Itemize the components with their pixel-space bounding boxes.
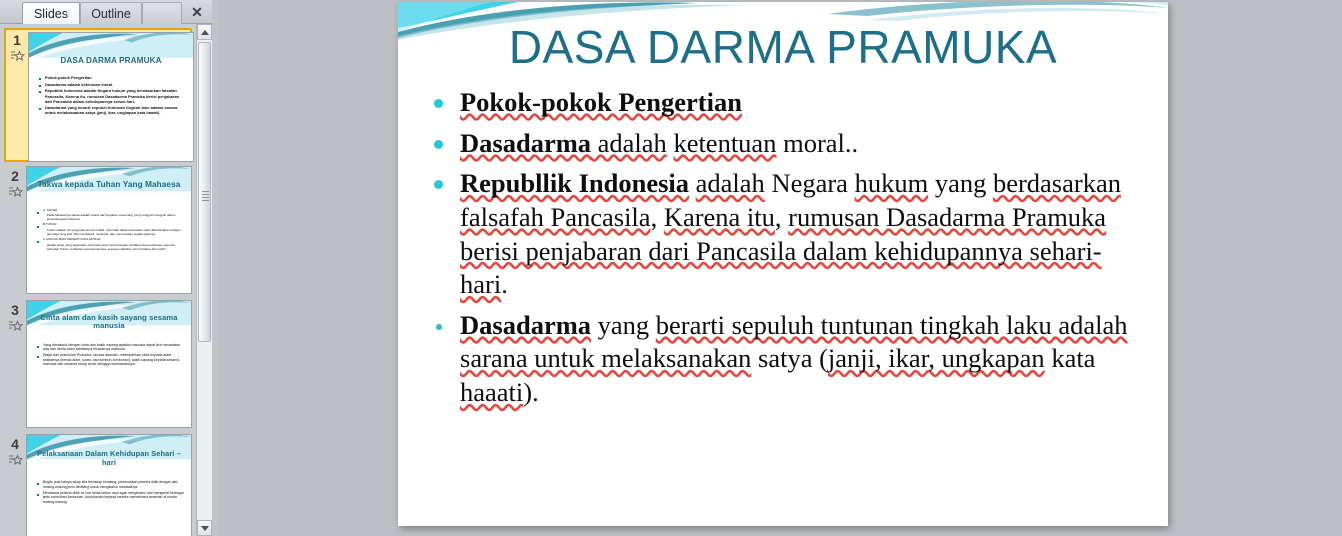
thumbnail-gutter: 3	[4, 300, 26, 428]
thumbnail-body-line: Pada hakekatnya takwa adalah usaha dan k…	[37, 214, 185, 222]
animation-star-icon[interactable]	[10, 50, 25, 68]
thumbnail-title: Cinta alam dan kasih sayang sesama manus…	[34, 314, 185, 331]
misspelled-text: janji, ikar, ungkapan	[828, 343, 1045, 373]
slide-number: 1	[13, 32, 21, 49]
current-slide[interactable]: DASA DARMA PRAMUKA Pokok-pokok Pengertia…	[398, 2, 1168, 526]
misspelled-text: Dasadarma	[460, 310, 591, 340]
slide-number: 3	[11, 302, 19, 319]
scrollbar-thumb[interactable]	[198, 42, 211, 342]
slide-body-placeholder[interactable]: Pokok-pokok PengertianDasadarma adalah k…	[430, 86, 1136, 417]
thumbnail-body-line: C.AKHLAK BUDI PEKERTI DAN AKHLAK	[37, 238, 185, 242]
misspelled-text: hukum	[855, 168, 929, 198]
panel-scrollbar[interactable]	[196, 24, 212, 536]
bullet-text: ).	[523, 377, 538, 407]
thumbnail-body-line: Yang dimaksud dengan cinta dan kasih say…	[37, 343, 185, 352]
bullet-text: yang	[928, 168, 993, 198]
slide-number: 4	[11, 436, 19, 453]
misspelled-text: Republlik Indonesia	[460, 168, 689, 198]
thumbnail-body-line: A. TAKWA	[37, 209, 185, 213]
bullet-dot-icon	[436, 324, 442, 330]
chevron-up-icon	[201, 30, 209, 35]
slide-number: 2	[11, 168, 19, 185]
tab-slides-label: Slides	[34, 7, 68, 21]
slide-editing-stage: DASA DARMA PRAMUKA Pokok-pokok Pengertia…	[218, 0, 1342, 536]
slide-bullet[interactable]: Pokok-pokok Pengertian	[430, 86, 1136, 120]
thumbnail-body-line: Dasadarma yang berarti sepuluh tuntunan …	[39, 105, 187, 115]
bullet-text	[689, 168, 696, 198]
thumbnail-body: A. TAKWAPada hakekatnya takwa adalah usa…	[37, 209, 185, 254]
bullet-text: moral..	[776, 128, 858, 158]
chevron-down-icon	[201, 526, 209, 531]
misspelled-text: haaati	[460, 377, 523, 407]
thumbnail-frame[interactable]: Cinta alam dan kasih sayang sesama manus…	[26, 300, 192, 428]
thumbnail-gutter: 2	[4, 166, 26, 294]
bullet-text: satya (	[751, 343, 828, 373]
thumbnail-body: Yang dimaksud dengan cinta dan kasih say…	[37, 343, 185, 369]
close-icon[interactable]: ✕	[188, 3, 206, 21]
thumbnail-title: Pelaksanaan Dalam Kehidupan Sehari – har…	[34, 450, 185, 467]
animation-star-icon[interactable]	[8, 320, 23, 338]
thumbnail-body: Begitu pula halnya sikap kita terhadap b…	[37, 480, 185, 505]
slide-thumbnail-2[interactable]: 2Takwa kepada Tuhan Yang MahaesaA. TAKWA…	[4, 166, 192, 294]
thumbnail-title: Takwa kepada Tuhan Yang Mahaesa	[34, 180, 185, 189]
slide-thumbnail-list[interactable]: 1DASA DARMA PRAMUKAPokok-pokok Pengertia…	[0, 24, 196, 536]
bullet-text: ,	[775, 202, 788, 232]
thumbnail-gutter: 4	[4, 434, 26, 536]
thumbnail-body-line: B.TUHAN	[37, 223, 185, 227]
slide-bullet[interactable]: Dasadarma adalah ketentuan moral..	[430, 127, 1136, 161]
misspelled-text: adalah	[591, 128, 667, 158]
misspelled-text: ketentuan	[673, 128, 776, 158]
thumbnail-body-line: Membawa peserta didik ke luar kelas kebu…	[37, 491, 185, 504]
scroll-up-button[interactable]	[197, 24, 212, 40]
slides-panel: Slides Outline ✕ 1DASA DARMA PRAMUKAPoko…	[0, 0, 212, 536]
misspelled-text: Pokok-pokok Pengertian	[460, 87, 742, 117]
thumbnail-slide-render: DASA DARMA PRAMUKAPokok-pokok Pengertian…	[29, 33, 193, 161]
bullet-dot-icon	[434, 180, 443, 189]
slide-title[interactable]: DASA DARMA PRAMUKA	[398, 20, 1168, 74]
thumbnail-body-line: Tuhan adalah zat yang ada semua mutlak .…	[37, 229, 185, 237]
tab-outline-label: Outline	[91, 7, 131, 21]
misspelled-text: Dasadarma	[460, 128, 591, 158]
tab-slides[interactable]: Slides	[22, 2, 80, 24]
slide-thumbnail-4[interactable]: 4Pelaksanaan Dalam Kehidupan Sehari – ha…	[4, 434, 192, 536]
thumbnail-title: DASA DARMA PRAMUKA	[36, 56, 187, 65]
thumbnail-slide-render: Pelaksanaan Dalam Kehidupan Sehari – har…	[27, 435, 191, 536]
slide-bullet[interactable]: Republlik Indonesia adalah Negara hukum …	[430, 167, 1136, 302]
thumbnail-body-line: Pokok-pokok Pengertian	[39, 75, 187, 80]
thumbnail-frame[interactable]: Takwa kepada Tuhan Yang MahaesaA. TAKWAP…	[26, 166, 192, 294]
bullet-text: Negara	[765, 168, 855, 198]
tab-outline[interactable]: Outline	[80, 2, 142, 24]
thumbnail-body-line: Begitu pula halnya sikap kita terhadap b…	[37, 480, 185, 489]
bullet-text: ,	[651, 202, 664, 232]
animation-star-icon[interactable]	[8, 186, 23, 204]
thumbnail-frame[interactable]: DASA DARMA PRAMUKAPokok-pokok Pengertian…	[28, 32, 194, 162]
thumbnail-frame[interactable]: Pelaksanaan Dalam Kehidupan Sehari – har…	[26, 434, 192, 536]
slide-thumbnail-3[interactable]: 3Cinta alam dan kasih sayang sesama manu…	[4, 300, 192, 428]
bullet-dot-icon	[434, 140, 443, 149]
thumbnail-body-line: Wajar dan pramuliah Pramuka, secara alam…	[37, 353, 185, 367]
misspelled-text: Karena itu	[664, 202, 775, 232]
slide-thumbnail-1[interactable]: 1DASA DARMA PRAMUKAPokok-pokok Pengertia…	[4, 28, 192, 162]
animation-star-icon[interactable]	[8, 454, 23, 472]
thumbnail-body-line: adalah sikap yang digunakan oleh jiwa ya…	[37, 244, 185, 252]
thumbnail-slide-render: Cinta alam dan kasih sayang sesama manus…	[27, 301, 191, 427]
thumbnail-body: Pokok-pokok PengertianDasadarma adalah k…	[39, 75, 187, 117]
thumbnail-gutter: 1	[6, 30, 28, 160]
bullet-text: kata	[1045, 343, 1096, 373]
bullet-dot-icon	[434, 99, 443, 108]
misspelled-text: adalah	[696, 168, 765, 198]
slide-bullet[interactable]: Dasadarma yang berarti sepuluh tuntunan …	[430, 309, 1136, 410]
bullet-text: .	[501, 269, 508, 299]
thumbnail-body-line: Republlik Indonesia adalah Negara hukum …	[39, 88, 187, 103]
close-glyph: ✕	[191, 4, 203, 21]
powerpoint-window: Slides Outline ✕ 1DASA DARMA PRAMUKAPoko…	[0, 0, 1342, 536]
panel-tab-strip: Slides Outline ✕	[0, 0, 212, 24]
thumbnail-body-line: Dasadarma adalah ketentuan moral.	[39, 82, 187, 87]
scroll-down-button[interactable]	[197, 520, 212, 536]
bullet-text: yang	[591, 310, 656, 340]
tab-strip-filler	[142, 2, 182, 24]
thumbnail-slide-render: Takwa kepada Tuhan Yang MahaesaA. TAKWAP…	[27, 167, 191, 293]
